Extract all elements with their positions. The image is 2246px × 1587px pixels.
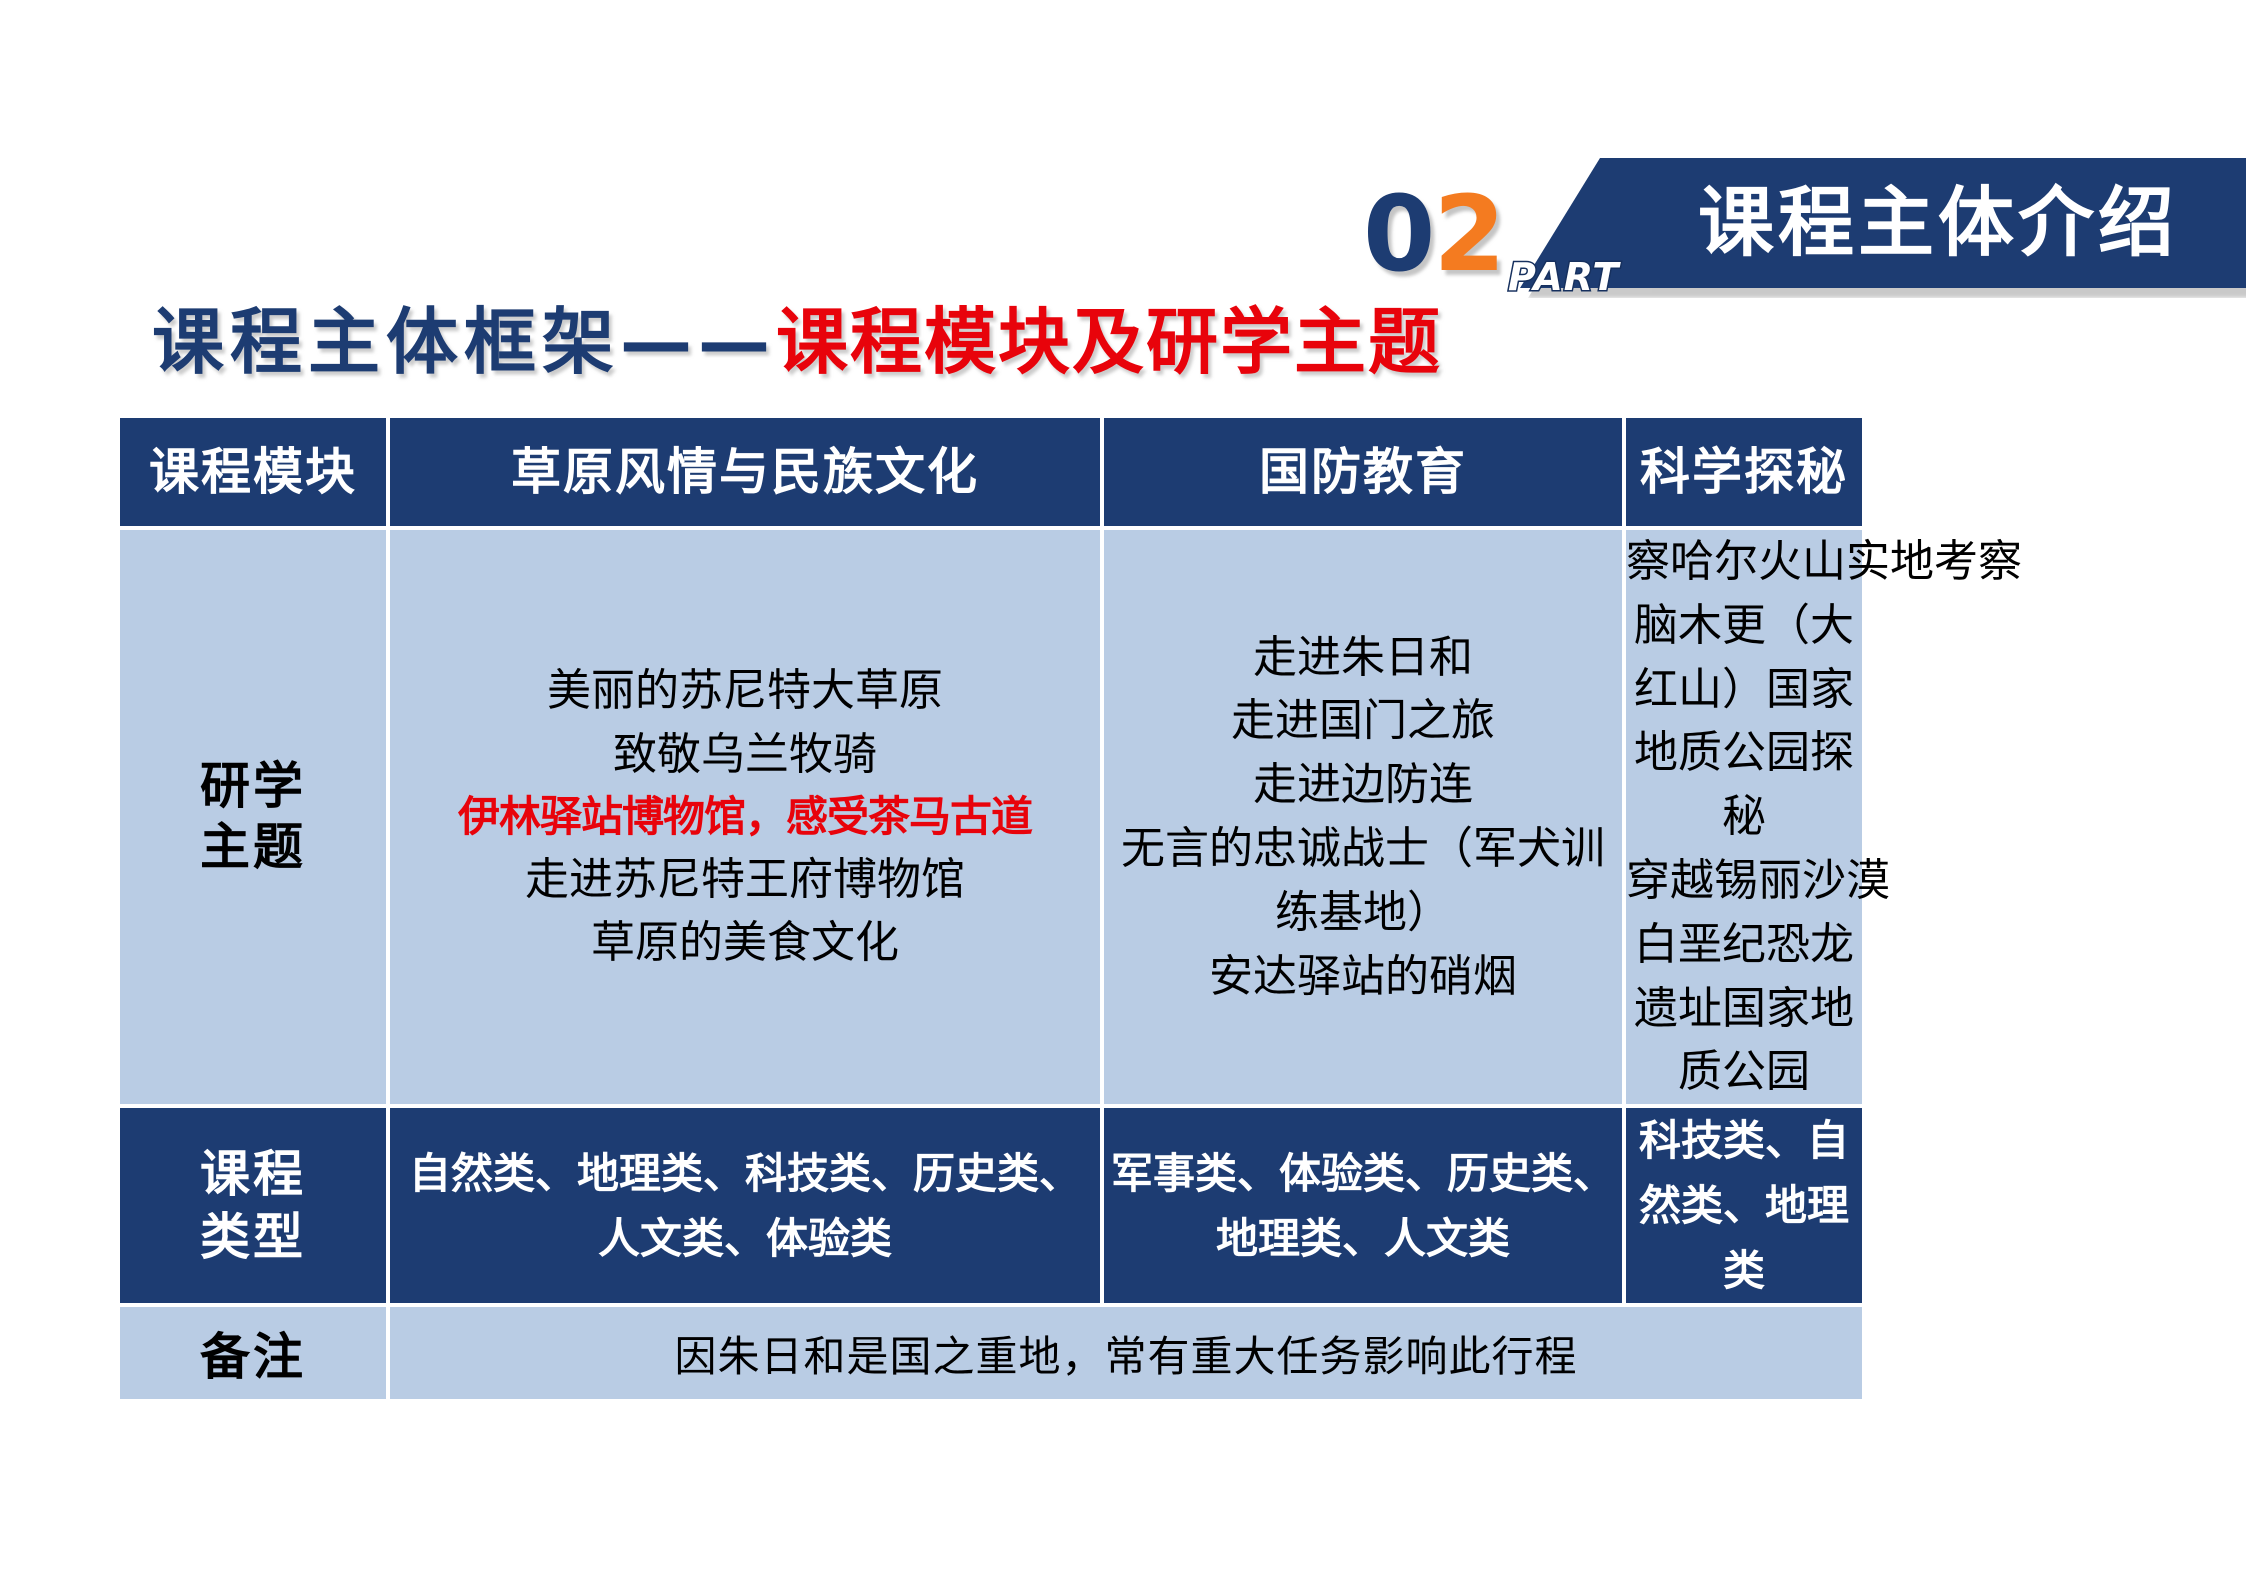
table-header-science: 科学探秘 <box>1626 418 1862 526</box>
page-title-accent: 课程模块及研学主题 <box>776 300 1442 384</box>
table-row: 研学 主题 美丽的苏尼特大草原 致敬乌兰牧骑 伊林驿站博物馆，感受茶马古道 走进… <box>120 530 1862 1104</box>
cell-type-science: 科技类、自然类、地理类 <box>1626 1108 1862 1303</box>
banner-title: 课程主体介绍 <box>1698 185 2178 261</box>
theme-item: 白垩纪恐龙遗址国家地质公园 <box>1626 913 1862 1104</box>
cell-type-grassland: 自然类、地理类、科技类、历史类、人文类、体验类 <box>390 1108 1100 1303</box>
table-header-defense: 国防教育 <box>1104 418 1622 526</box>
row-label-course-type: 课程 类型 <box>120 1108 386 1303</box>
part-number: 02 <box>1363 182 1504 286</box>
theme-item: 穿越锡丽沙漠 <box>1626 849 1862 913</box>
header-banner: 课程主体介绍 <box>1520 158 2246 288</box>
theme-item: 安达驿站的硝烟 <box>1104 945 1622 1009</box>
row-label-remark: 备注 <box>120 1307 386 1399</box>
theme-item: 脑木更（大红山）国家地质公园探秘 <box>1626 594 1862 849</box>
row-label-line-2: 类型 <box>120 1206 386 1269</box>
table-header-module: 课程模块 <box>120 418 386 526</box>
theme-item: 察哈尔火山实地考察 <box>1626 530 1862 594</box>
table-row: 课程 类型 自然类、地理类、科技类、历史类、人文类、体验类 军事类、体验类、历史… <box>120 1108 1862 1303</box>
part-number-zero: 0 <box>1363 173 1433 295</box>
table-header-grassland: 草原风情与民族文化 <box>390 418 1100 526</box>
page-title: 课程主体框架——课程模块及研学主题 <box>152 302 1442 383</box>
row-label-line-1: 研学 <box>120 756 386 817</box>
theme-item-highlighted: 伊林驿站博物馆，感受茶马古道 <box>390 787 1100 848</box>
theme-item: 致敬乌兰牧骑 <box>390 723 1100 787</box>
part-label: PART <box>1508 255 1619 299</box>
theme-item: 走进国门之旅 <box>1104 689 1622 753</box>
cell-theme-grassland: 美丽的苏尼特大草原 致敬乌兰牧骑 伊林驿站博物馆，感受茶马古道 走进苏尼特王府博… <box>390 530 1100 1104</box>
cell-remark-text: 因朱日和是国之重地，常有重大任务影响此行程 <box>390 1307 1862 1399</box>
cell-theme-defense: 走进朱日和 走进国门之旅 走进边防连 无言的忠诚战士（军犬训练基地） 安达驿站的… <box>1104 530 1622 1104</box>
row-label-line-2: 主题 <box>120 817 386 878</box>
theme-item: 走进苏尼特王府博物馆 <box>390 848 1100 912</box>
row-label-line-1: 课程 <box>120 1143 386 1206</box>
cell-type-defense: 军事类、体验类、历史类、地理类、人文类 <box>1104 1108 1622 1303</box>
table-row-remark: 备注 因朱日和是国之重地，常有重大任务影响此行程 <box>120 1307 1862 1399</box>
theme-item: 走进朱日和 <box>1104 626 1622 690</box>
part-number-two: 2 <box>1433 173 1503 295</box>
cell-theme-science: 察哈尔火山实地考察 脑木更（大红山）国家地质公园探秘 穿越锡丽沙漠 白垩纪恐龙遗… <box>1626 530 1862 1104</box>
theme-item: 草原的美食文化 <box>390 911 1100 975</box>
theme-item: 无言的忠诚战士（军犬训练基地） <box>1104 817 1622 945</box>
page-title-primary: 课程主体框架—— <box>152 300 776 384</box>
row-label-research-theme: 研学 主题 <box>120 530 386 1104</box>
course-framework-table: 课程模块 草原风情与民族文化 国防教育 科学探秘 研学 主题 美丽的苏尼特大草原… <box>116 414 1866 1403</box>
theme-item: 美丽的苏尼特大草原 <box>390 659 1100 723</box>
theme-item: 走进边防连 <box>1104 753 1622 817</box>
table-header-row: 课程模块 草原风情与民族文化 国防教育 科学探秘 <box>120 418 1862 526</box>
